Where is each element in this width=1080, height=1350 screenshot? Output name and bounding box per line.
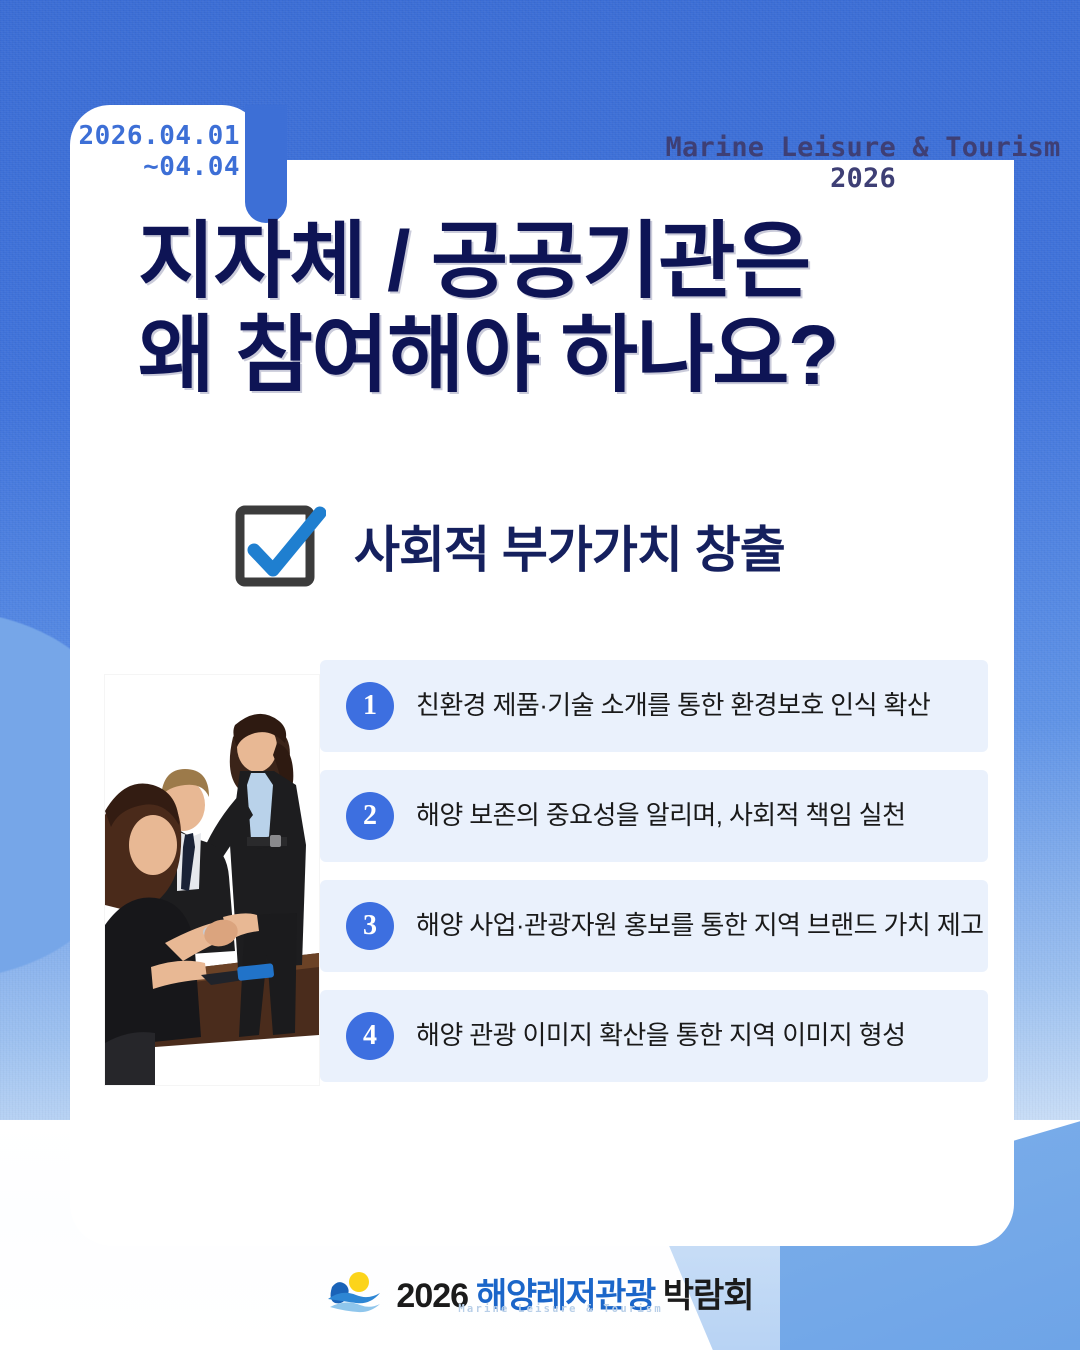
business-handshake-photo [105,675,319,1085]
list-item-number: 1 [346,682,394,730]
checked-checkbox-icon [234,500,326,592]
date-range-label: 2026.04.01 ~04.04 [70,121,240,182]
logo-year: 2026 [396,1277,468,1316]
subtitle-label: 사회적 부가가치 창출 [354,510,785,582]
list-item-label: 해양 사업·관광자원 홍보를 통한 지역 브랜드 가치 제고 [416,909,983,943]
list-item: 1 친환경 제품·기술 소개를 통한 환경보호 인식 확산 [320,660,988,752]
tab-notch-divider [245,105,287,223]
subtitle-row: 사회적 부가가치 창출 [234,500,785,592]
page-title: 지자체 / 공공기관은 왜 참여해야 하나요? [138,214,998,402]
date-tab: 2026.04.01 ~04.04 [70,105,262,223]
brand-title: Marine Leisure & Tourism 2026 [646,132,1080,194]
logo-name-rest: 박람회 [663,1268,754,1317]
logo-wordmark: 2026 해양레저관광 박람회 Marine Leisure & Tourism [396,1268,753,1317]
footer-logo: 2026 해양레저관광 박람회 Marine Leisure & Tourism [0,1268,1080,1317]
list-item: 2 해양 보존의 중요성을 알리며, 사회적 책임 실천 [320,770,988,862]
list-item-number: 2 [346,792,394,840]
list-item: 4 해양 관광 이미지 확산을 통한 지역 이미지 형성 [320,990,988,1082]
list-item: 3 해양 사업·관광자원 홍보를 통한 지역 브랜드 가치 제고 [320,880,988,972]
list-item-number: 3 [346,902,394,950]
list-item-number: 4 [346,1012,394,1060]
benefits-list: 1 친환경 제품·기술 소개를 통한 환경보호 인식 확산 2 해양 보존의 중… [320,660,988,1100]
list-item-label: 해양 보존의 중요성을 알리며, 사회적 책임 실천 [416,799,905,833]
sun-wave-logo-icon [326,1269,382,1317]
list-item-label: 친환경 제품·기술 소개를 통한 환경보호 인식 확산 [416,689,930,723]
logo-subtitle-en: Marine Leisure & Tourism [458,1303,663,1315]
list-item-label: 해양 관광 이미지 확산을 통한 지역 이미지 형성 [416,1019,905,1053]
